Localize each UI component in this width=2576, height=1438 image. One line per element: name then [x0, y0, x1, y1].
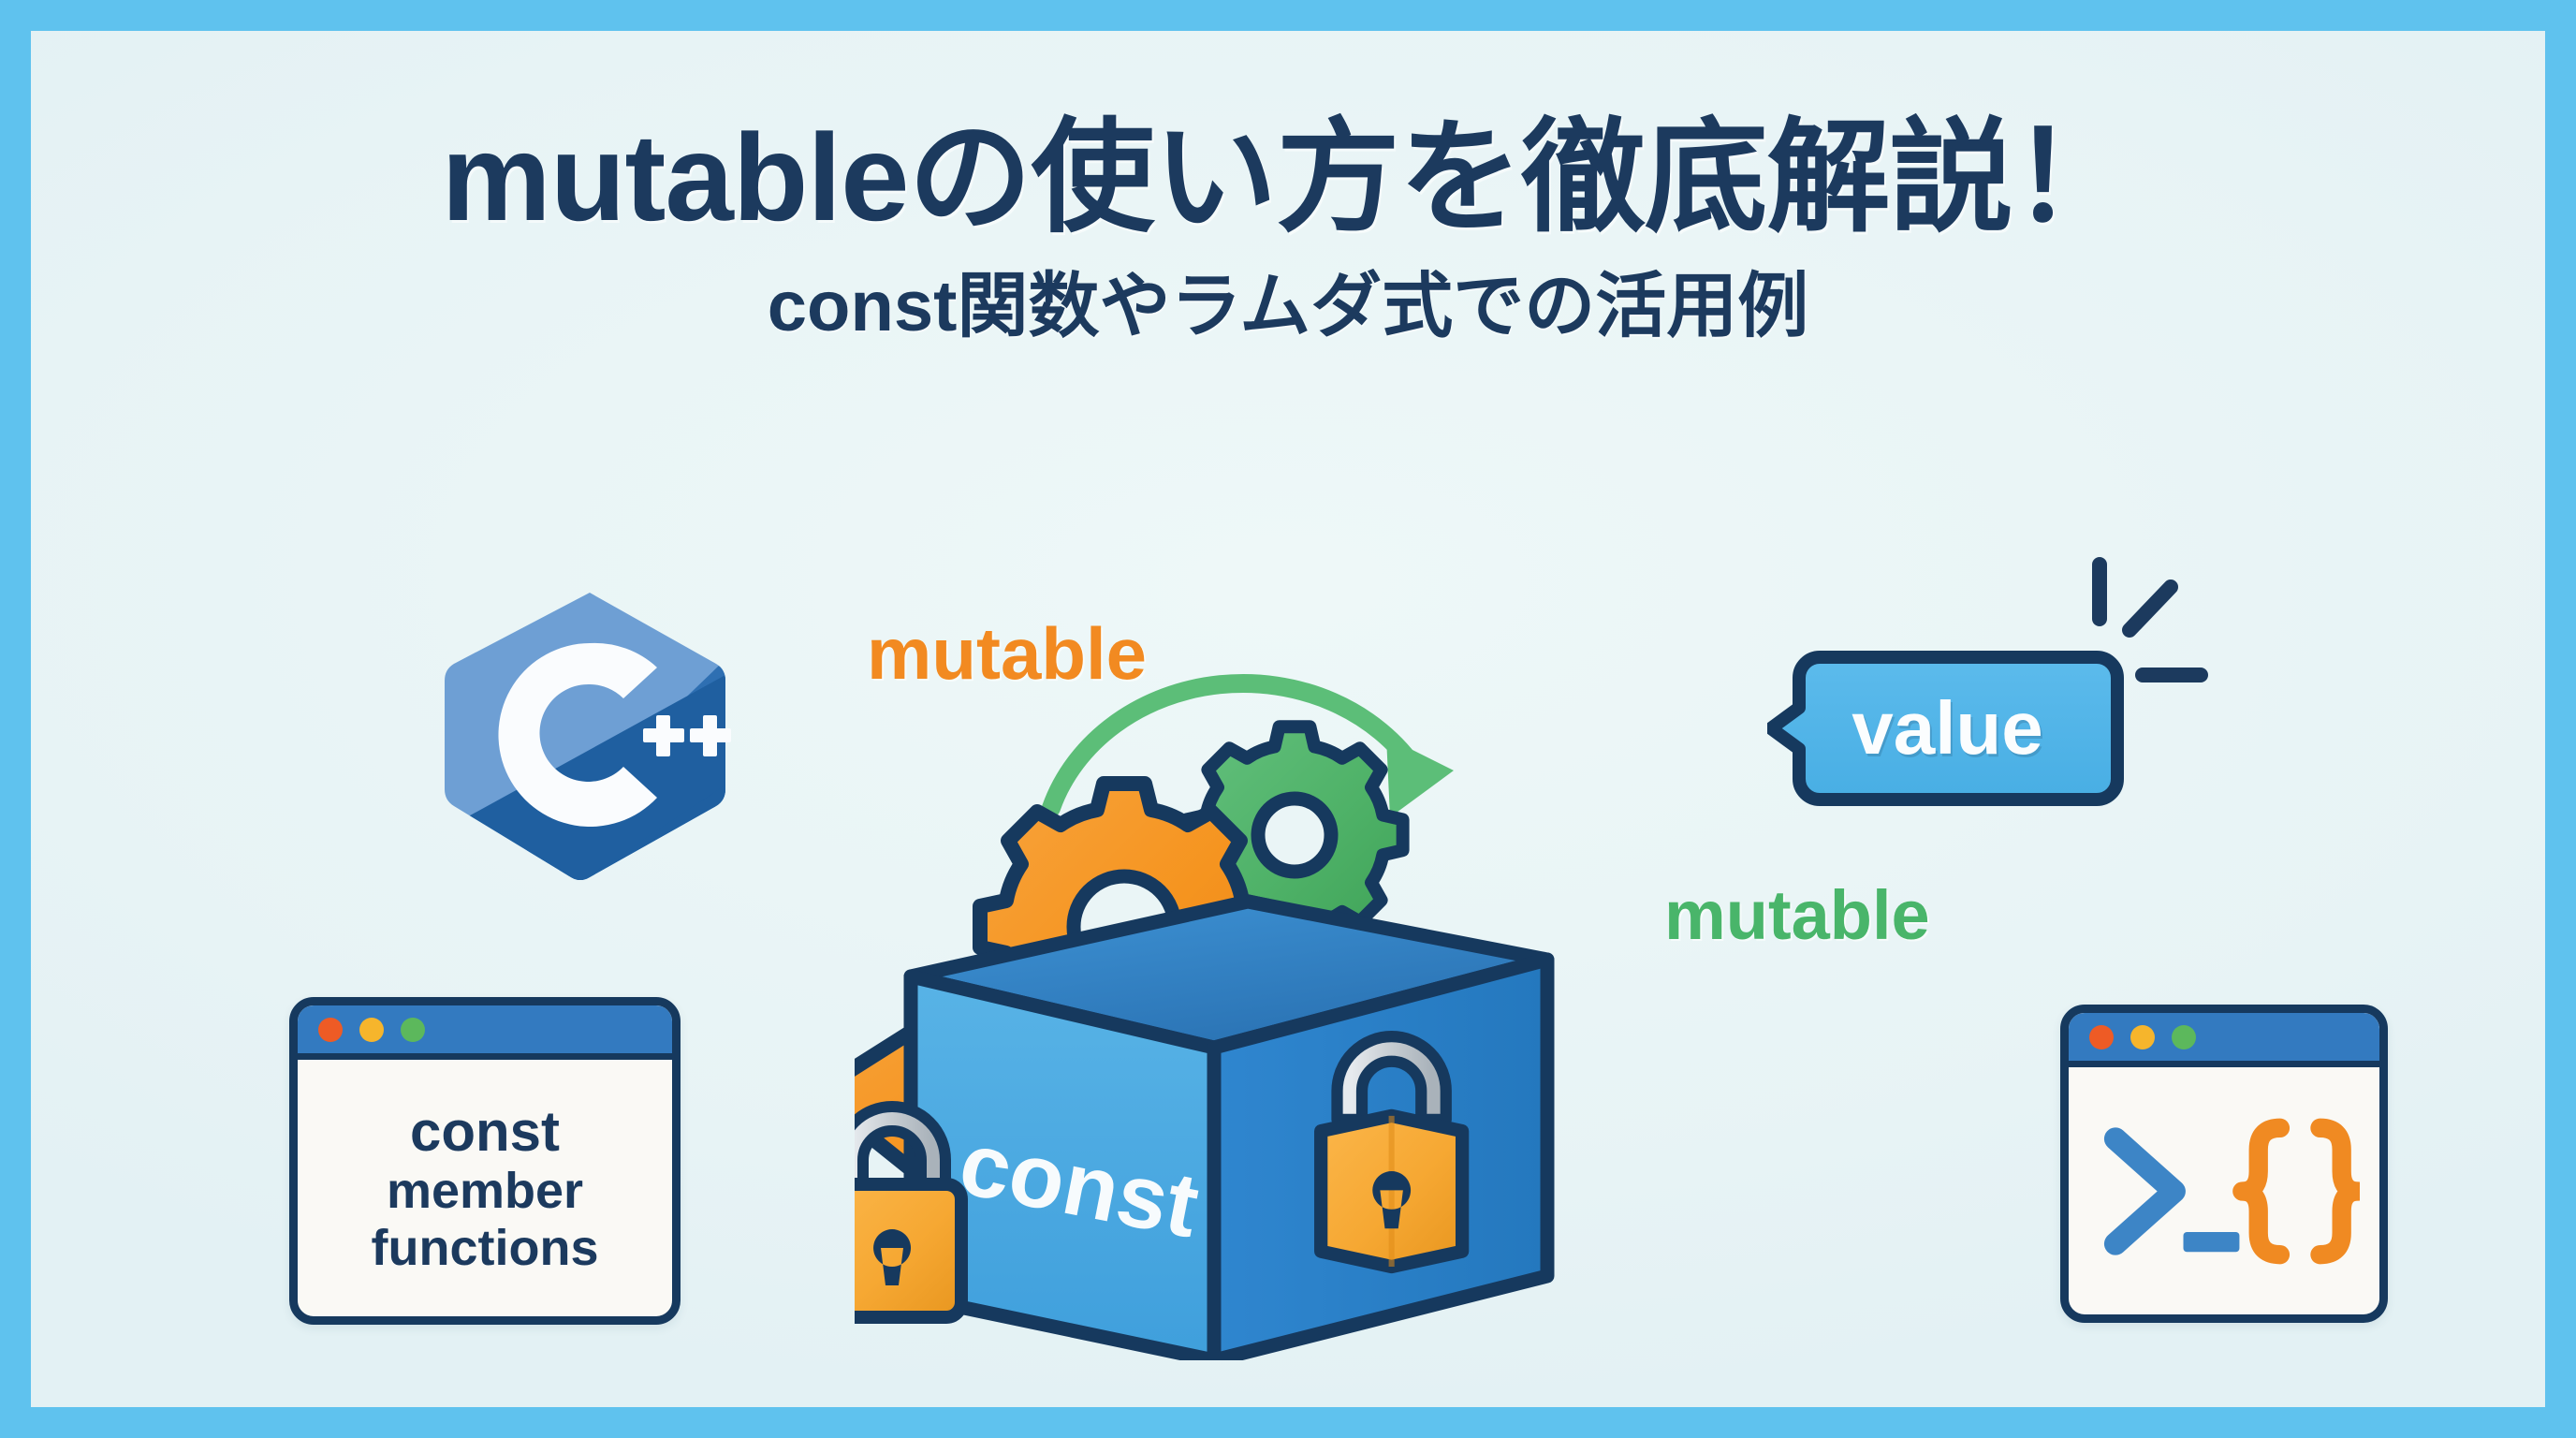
- window-dot-yellow-icon: [359, 1018, 384, 1042]
- value-bubble-label: value: [1767, 644, 2128, 813]
- window-content: const member functions: [298, 1060, 672, 1316]
- prompt-underscore-icon: [2184, 1232, 2240, 1252]
- page-title: mutableの使い方を徹底解説！: [31, 113, 2545, 243]
- const-box-illustration: const: [855, 536, 1828, 1360]
- cpp-logo: [435, 585, 744, 885]
- prompt-chevron-icon: [2115, 1138, 2174, 1243]
- window-dot-red-icon: [318, 1018, 343, 1042]
- card-line-3: functions: [372, 1220, 599, 1276]
- banner-inner: mutableの使い方を徹底解説！ const関数やラムダ式での活用例: [31, 31, 2545, 1407]
- window-title-bar: [298, 1005, 672, 1060]
- illustration-svg: const: [855, 536, 1828, 1360]
- const-member-functions-card[interactable]: const member functions: [289, 997, 681, 1325]
- cpp-logo-svg: [435, 585, 744, 885]
- card-line-2: member: [387, 1163, 583, 1219]
- window-content: [2069, 1067, 2379, 1314]
- braces-icon: [2242, 1127, 2358, 1254]
- banner: mutableの使い方を徹底解説！ const関数やラムダ式での活用例: [0, 0, 2576, 1438]
- window-title-bar: [2069, 1013, 2379, 1067]
- window-dot-yellow-icon: [2130, 1025, 2155, 1049]
- heading-block: mutableの使い方を徹底解説！ const関数やラムダ式での活用例: [31, 113, 2545, 345]
- terminal-code-icon: [2088, 1100, 2360, 1283]
- value-speech-bubble: value: [1767, 644, 2128, 813]
- padlock-left-icon: [855, 1107, 961, 1317]
- window-dot-green-icon: [2172, 1025, 2196, 1049]
- terminal-card[interactable]: [2060, 1005, 2388, 1323]
- card-line-1: const: [410, 1100, 560, 1163]
- sparkle-icon: [2081, 555, 2231, 742]
- sparkle-svg: [2081, 555, 2231, 742]
- window-dot-green-icon: [401, 1018, 425, 1042]
- page-subtitle: const関数やラムダ式での活用例: [31, 268, 2545, 346]
- window-dot-red-icon: [2089, 1025, 2114, 1049]
